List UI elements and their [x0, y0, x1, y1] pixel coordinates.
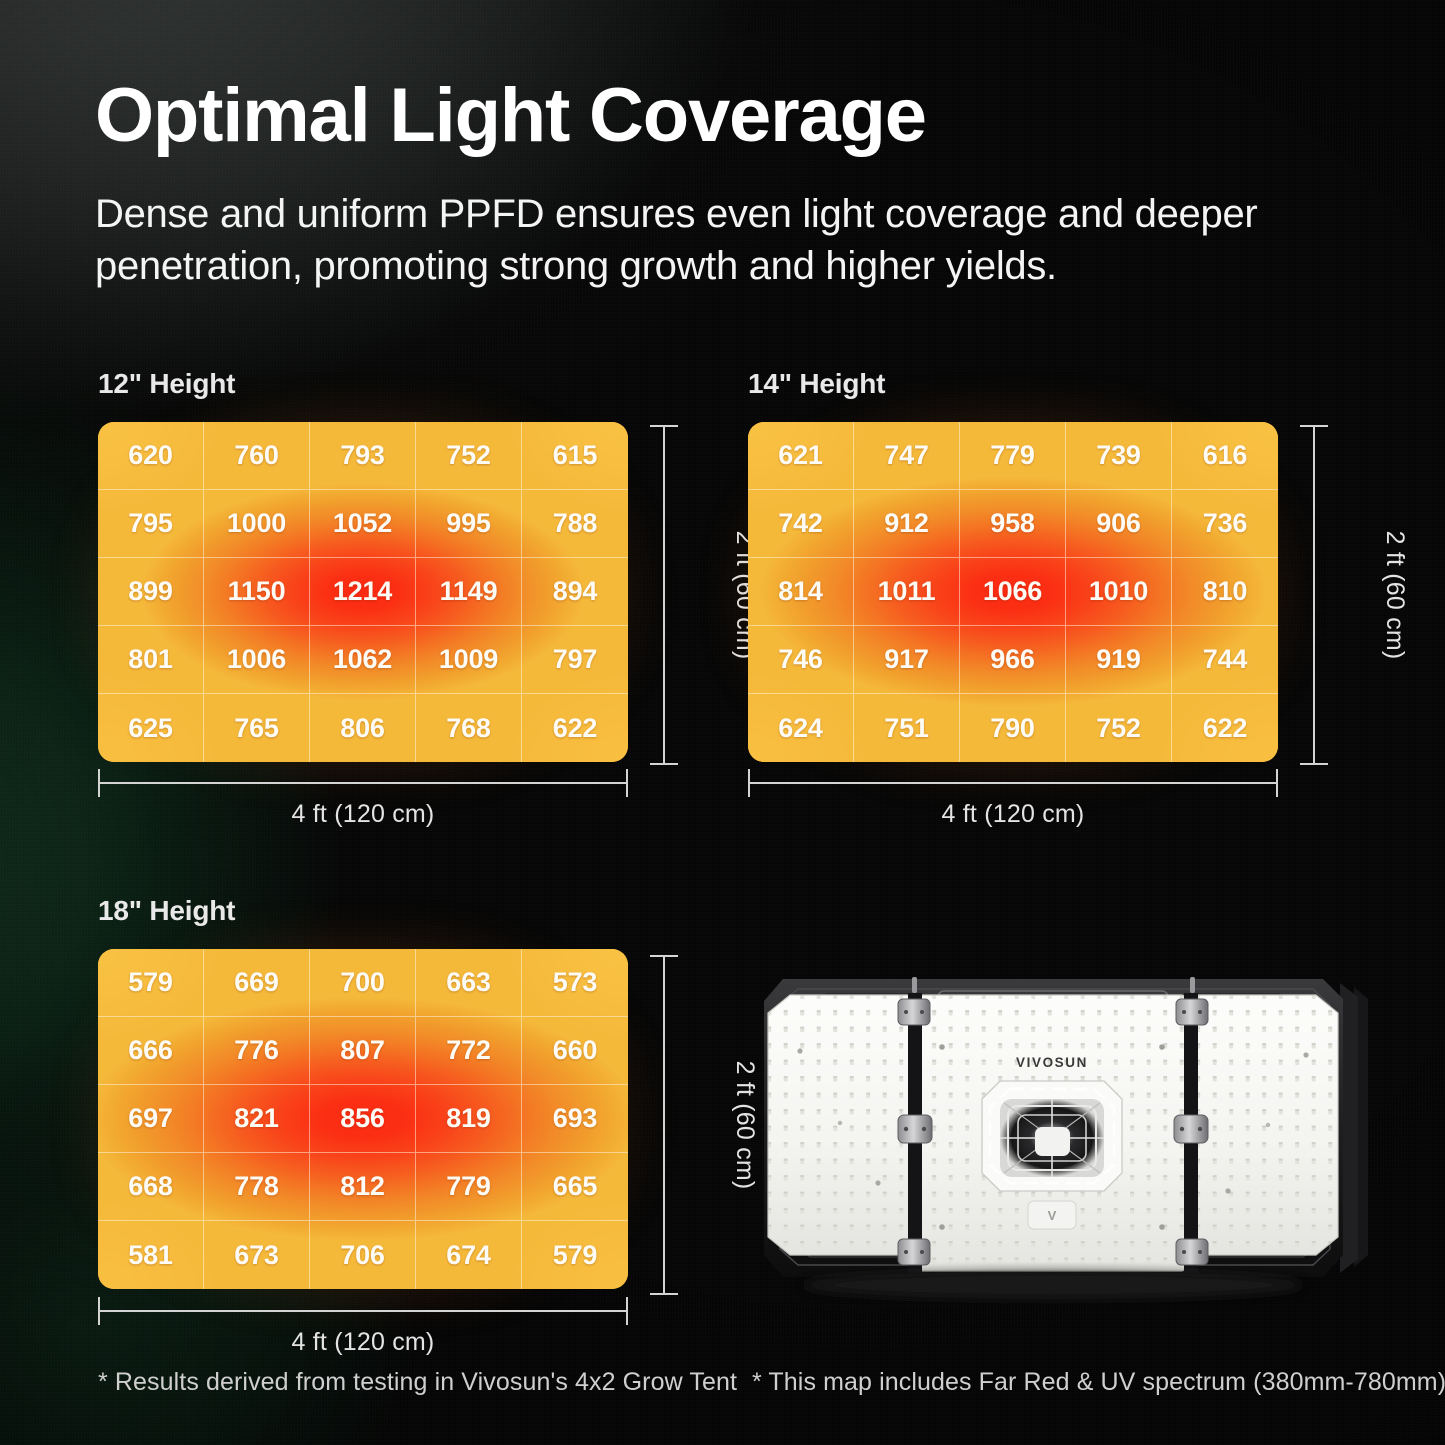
ppfd-cell: 894	[522, 558, 628, 626]
ppfd-cell: 663	[416, 949, 522, 1017]
ppfd-cell: 573	[522, 949, 628, 1017]
ppfd-cell: 581	[98, 1221, 204, 1289]
product-shadow	[803, 1271, 1303, 1299]
page-title: Optimal Light Coverage	[95, 78, 1365, 154]
ppfd-map-18in: 18" Height 57966970066357366677680777266…	[98, 895, 628, 1289]
grow-light-illustration: VIVOSUN V	[728, 955, 1378, 1305]
ppfd-cell: 1062	[310, 626, 416, 694]
ppfd-cell: 1010	[1066, 558, 1172, 626]
ppfd-cell: 899	[98, 558, 204, 626]
ppfd-cell: 801	[98, 626, 204, 694]
ppfd-cell: 622	[522, 694, 628, 762]
ppfd-cell: 1150	[204, 558, 310, 626]
dimension-bar	[1313, 425, 1315, 765]
footnote-right: * This map includes Far Red & UV spectru…	[752, 1368, 1445, 1397]
dimension-width-14in: 4 ft (120 cm)	[748, 782, 1278, 838]
ppfd-cell: 917	[854, 626, 960, 694]
ppfd-cell: 1009	[416, 626, 522, 694]
dimension-height-14in: 2 ft (60 cm)	[1300, 425, 1360, 765]
ppfd-cell: 624	[748, 694, 854, 762]
ppfd-cell: 625	[98, 694, 204, 762]
dimension-width-12in: 4 ft (120 cm)	[98, 782, 628, 838]
ppfd-cell: 666	[98, 1017, 204, 1085]
heatmap-grid-14in: 6217477797396167429129589067368141011106…	[748, 422, 1278, 762]
ppfd-cell: 700	[310, 949, 416, 1017]
ppfd-cell: 693	[522, 1085, 628, 1153]
ppfd-cell: 706	[310, 1221, 416, 1289]
dimension-bar	[98, 1310, 628, 1312]
ppfd-cell: 674	[416, 1221, 522, 1289]
ppfd-cell: 966	[960, 626, 1066, 694]
ppfd-cell: 912	[854, 490, 960, 558]
led-board-right	[1196, 995, 1338, 1255]
ppfd-cell: 919	[1066, 626, 1172, 694]
heatmap-grid-12in: 6207607937526157951000105299578889911501…	[98, 422, 628, 762]
ppfd-cell: 752	[1066, 694, 1172, 762]
ppfd-cell: 779	[960, 422, 1066, 490]
ppfd-cell: 620	[98, 422, 204, 490]
ppfd-cell: 1149	[416, 558, 522, 626]
driver-fan-housing	[982, 1081, 1122, 1191]
ppfd-cell: 744	[1172, 626, 1278, 694]
dimension-width-label: 4 ft (120 cm)	[748, 800, 1278, 829]
ppfd-cell: 752	[416, 422, 522, 490]
ppfd-cell: 778	[204, 1153, 310, 1221]
dimension-width-18in: 4 ft (120 cm)	[98, 1310, 628, 1366]
ppfd-cell: 1006	[204, 626, 310, 694]
ppfd-map-14in: 14" Height 62174777973961674291295890673…	[748, 368, 1278, 762]
ppfd-map-12in: 12" Height 62076079375261579510001052995…	[98, 368, 628, 762]
product-brand-text: VIVOSUN	[1016, 1055, 1088, 1070]
dimension-bar	[98, 782, 628, 784]
ppfd-cell: 579	[98, 949, 204, 1017]
ppfd-cell: 697	[98, 1085, 204, 1153]
dimension-height-label: 2 ft (60 cm)	[1380, 531, 1409, 660]
ppfd-cell: 1052	[310, 490, 416, 558]
ppfd-cell: 768	[416, 694, 522, 762]
ppfd-cell: 621	[748, 422, 854, 490]
led-board-left	[768, 995, 910, 1255]
heatmap-grid-18in: 5796697006635736667768077726606978218568…	[98, 949, 628, 1289]
ppfd-cell: 797	[522, 626, 628, 694]
ppfd-cell: 616	[1172, 422, 1278, 490]
ppfd-cell: 1011	[854, 558, 960, 626]
ppfd-cell: 746	[748, 626, 854, 694]
ppfd-cell: 819	[416, 1085, 522, 1153]
ppfd-cell: 814	[748, 558, 854, 626]
ppfd-cell: 1000	[204, 490, 310, 558]
ppfd-cell: 779	[416, 1153, 522, 1221]
ppfd-cell: 812	[310, 1153, 416, 1221]
ppfd-cell: 1066	[960, 558, 1066, 626]
product-image-grow-light: VIVOSUN V	[728, 955, 1378, 1305]
ppfd-cell: 739	[1066, 422, 1172, 490]
ppfd-cell: 856	[310, 1085, 416, 1153]
ppfd-cell: 806	[310, 694, 416, 762]
ppfd-cell: 736	[1172, 490, 1278, 558]
ppfd-cell: 906	[1066, 490, 1172, 558]
ppfd-cell: 958	[960, 490, 1066, 558]
ppfd-cell: 795	[98, 490, 204, 558]
ppfd-cell: 747	[854, 422, 960, 490]
heatmap-cells: 6217477797396167429129589067368141011106…	[748, 422, 1278, 762]
led-board-center: VIVOSUN V	[918, 995, 1186, 1271]
ppfd-cell: 810	[1172, 558, 1278, 626]
ppfd-cell: 742	[748, 490, 854, 558]
ppfd-cell: 673	[204, 1221, 310, 1289]
ppfd-cell: 765	[204, 694, 310, 762]
dimension-bar	[663, 425, 665, 765]
ppfd-cell: 760	[204, 422, 310, 490]
ppfd-cell: 660	[522, 1017, 628, 1085]
dimension-bar	[663, 955, 665, 1295]
ppfd-cell: 669	[204, 949, 310, 1017]
page-subtitle: Dense and uniform PPFD ensures even ligh…	[95, 188, 1295, 292]
map-title-18in: 18" Height	[98, 895, 628, 927]
dimension-bar	[748, 782, 1278, 784]
ppfd-cell: 776	[204, 1017, 310, 1085]
header: Optimal Light Coverage Dense and uniform…	[95, 78, 1365, 292]
heatmap-cells: 6207607937526157951000105299578889911501…	[98, 422, 628, 762]
ppfd-cell: 772	[416, 1017, 522, 1085]
map-title-14in: 14" Height	[748, 368, 1278, 400]
ppfd-cell: 668	[98, 1153, 204, 1221]
ppfd-cell: 1214	[310, 558, 416, 626]
ppfd-cell: 665	[522, 1153, 628, 1221]
ppfd-cell: 790	[960, 694, 1066, 762]
ppfd-cell: 995	[416, 490, 522, 558]
dimension-width-label: 4 ft (120 cm)	[98, 800, 628, 829]
product-badge-text: V	[1048, 1208, 1057, 1223]
ppfd-cell: 788	[522, 490, 628, 558]
dimension-height-18in: 2 ft (60 cm)	[650, 955, 710, 1295]
ppfd-cell: 615	[522, 422, 628, 490]
footnote-left: * Results derived from testing in Vivosu…	[98, 1368, 737, 1397]
ppfd-cell: 579	[522, 1221, 628, 1289]
ppfd-cell: 793	[310, 422, 416, 490]
ppfd-cell: 807	[310, 1017, 416, 1085]
ppfd-cell: 821	[204, 1085, 310, 1153]
dimension-height-12in: 2 ft (60 cm)	[650, 425, 710, 765]
map-title-12in: 12" Height	[98, 368, 628, 400]
ppfd-cell: 622	[1172, 694, 1278, 762]
heatmap-cells: 5796697006635736667768077726606978218568…	[98, 949, 628, 1289]
dimension-width-label: 4 ft (120 cm)	[98, 1328, 628, 1357]
ppfd-cell: 751	[854, 694, 960, 762]
